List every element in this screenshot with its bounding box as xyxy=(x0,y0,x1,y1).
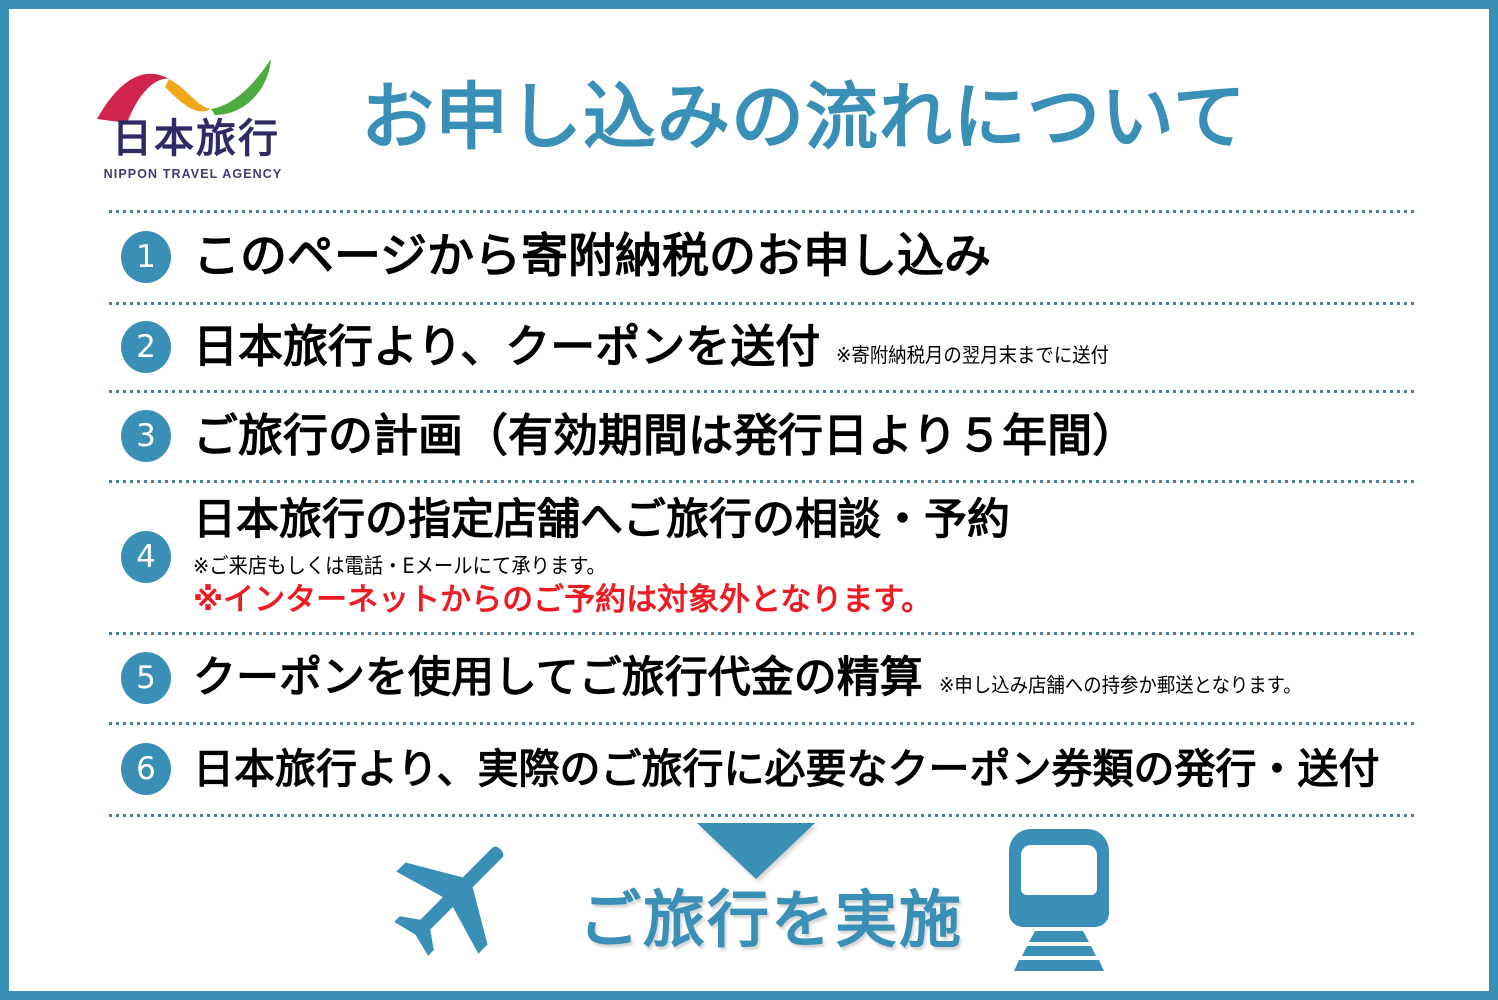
airplane-icon xyxy=(385,825,525,965)
step-row: 3 ご旅行の計画（有効期間は発行日より５年間） xyxy=(109,393,1415,479)
step-row: 2 日本旅行より、クーポンを送付 ※寄附納税月の翌月末までに送付 xyxy=(109,305,1415,389)
step-body: 日本旅行より、実際のご旅行に必要なクーポン券類の発行・送付 xyxy=(193,745,1415,793)
step-note: ※寄附納税月の翌月末までに送付 xyxy=(836,339,1109,368)
step-main: ご旅行の計画（有効期間は発行日より５年間） xyxy=(193,409,1415,462)
step-headline: 日本旅行より、実際のご旅行に必要なクーポン券類の発行・送付 xyxy=(193,745,1380,793)
step-note: ※申し込み店舗への持参か郵送となります。 xyxy=(939,669,1302,698)
train-icon xyxy=(1001,827,1117,975)
nippon-travel-agency-logo: 日本旅行 NIPPON TRAVEL AGENCY xyxy=(93,57,293,187)
step-row: 6 日本旅行より、実際のご旅行に必要なクーポン券類の発行・送付 xyxy=(109,725,1415,813)
step-body: 日本旅行より、クーポンを送付 ※寄附納税月の翌月末までに送付 xyxy=(193,320,1415,373)
logo-name-en: NIPPON TRAVEL AGENCY xyxy=(93,167,293,181)
step-number-badge: 1 xyxy=(121,231,171,283)
step-headline: クーポンを使用してご旅行代金の精算 xyxy=(193,653,923,704)
step-number-badge: 6 xyxy=(121,743,171,795)
step-note-warning: ※インターネットからのご予約は対象外となります。 xyxy=(193,583,1415,619)
page-title: お申し込みの流れについて xyxy=(361,79,1247,158)
poster-inner: 日本旅行 NIPPON TRAVEL AGENCY お申し込みの流れについて 1… xyxy=(13,13,1485,987)
poster: 日本旅行 NIPPON TRAVEL AGENCY お申し込みの流れについて 1… xyxy=(0,0,1498,1000)
step-headline: 日本旅行の指定店舗へご旅行の相談・予約 xyxy=(193,495,1010,546)
step-number-badge: 2 xyxy=(121,321,171,373)
logo-name-jp: 日本旅行 xyxy=(101,119,291,159)
step-main: 日本旅行の指定店舗へご旅行の相談・予約 xyxy=(193,495,1415,546)
step-number-badge: 3 xyxy=(121,410,171,462)
step-number-badge: 4 xyxy=(121,531,171,583)
step-headline: ご旅行の計画（有効期間は発行日より５年間） xyxy=(193,409,1137,462)
step-main: 日本旅行より、実際のご旅行に必要なクーポン券類の発行・送付 xyxy=(193,745,1415,793)
footer-text: ご旅行を実施 xyxy=(579,869,963,959)
step-row: 1 このページから寄附納税のお申し込み xyxy=(109,213,1415,301)
step-row: 5 クーポンを使用してご旅行代金の精算 ※申し込み店舗への持参か郵送となります。 xyxy=(109,635,1415,721)
header: 日本旅行 NIPPON TRAVEL AGENCY お申し込みの流れについて xyxy=(13,31,1485,191)
step-number-badge: 5 xyxy=(121,652,171,704)
step-headline: このページから寄附納税のお申し込み xyxy=(193,229,991,284)
step-note-secondary: ※ご来店もしくは電話・Eメールにて承ります。 xyxy=(193,550,1317,580)
step-main: このページから寄附納税のお申し込み xyxy=(193,229,1415,284)
steps-list: 1 このページから寄附納税のお申し込み 2 日本旅行より、クーポンを送付 ※寄附… xyxy=(109,209,1415,817)
step-body: クーポンを使用してご旅行代金の精算 ※申し込み店舗への持参か郵送となります。 xyxy=(193,653,1415,704)
step-body: ご旅行の計画（有効期間は発行日より５年間） xyxy=(193,409,1415,462)
step-row: 4 日本旅行の指定店舗へご旅行の相談・予約 ※ご来店もしくは電話・Eメールにて承… xyxy=(109,483,1415,631)
step-body: このページから寄附納税のお申し込み xyxy=(193,229,1415,284)
step-main: 日本旅行より、クーポンを送付 ※寄附納税月の翌月末までに送付 xyxy=(193,320,1415,373)
step-body: 日本旅行の指定店舗へご旅行の相談・予約 ※ご来店もしくは電話・Eメールにて承りま… xyxy=(193,495,1415,618)
step-main: クーポンを使用してご旅行代金の精算 ※申し込み店舗への持参か郵送となります。 xyxy=(193,653,1415,704)
step-headline: 日本旅行より、クーポンを送付 xyxy=(193,320,820,373)
